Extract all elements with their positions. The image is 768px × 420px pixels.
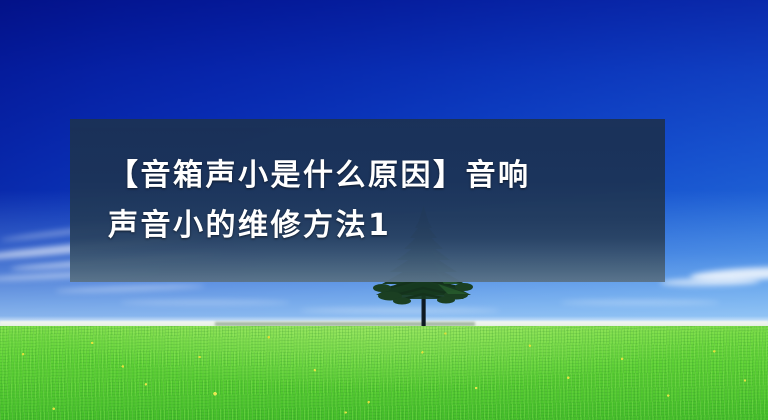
headline-block: 【音箱声小是什么原因】音响 声音小的维修方法1 bbox=[70, 119, 665, 282]
headline-line-2: 声音小的维修方法1 bbox=[108, 201, 665, 251]
headline-line-1: 【音箱声小是什么原因】音响 bbox=[108, 151, 665, 201]
yellow-flowers bbox=[0, 326, 768, 420]
banner-image: 【音箱声小是什么原因】音响 声音小的维修方法1 bbox=[0, 0, 768, 420]
grass-field bbox=[0, 326, 768, 420]
